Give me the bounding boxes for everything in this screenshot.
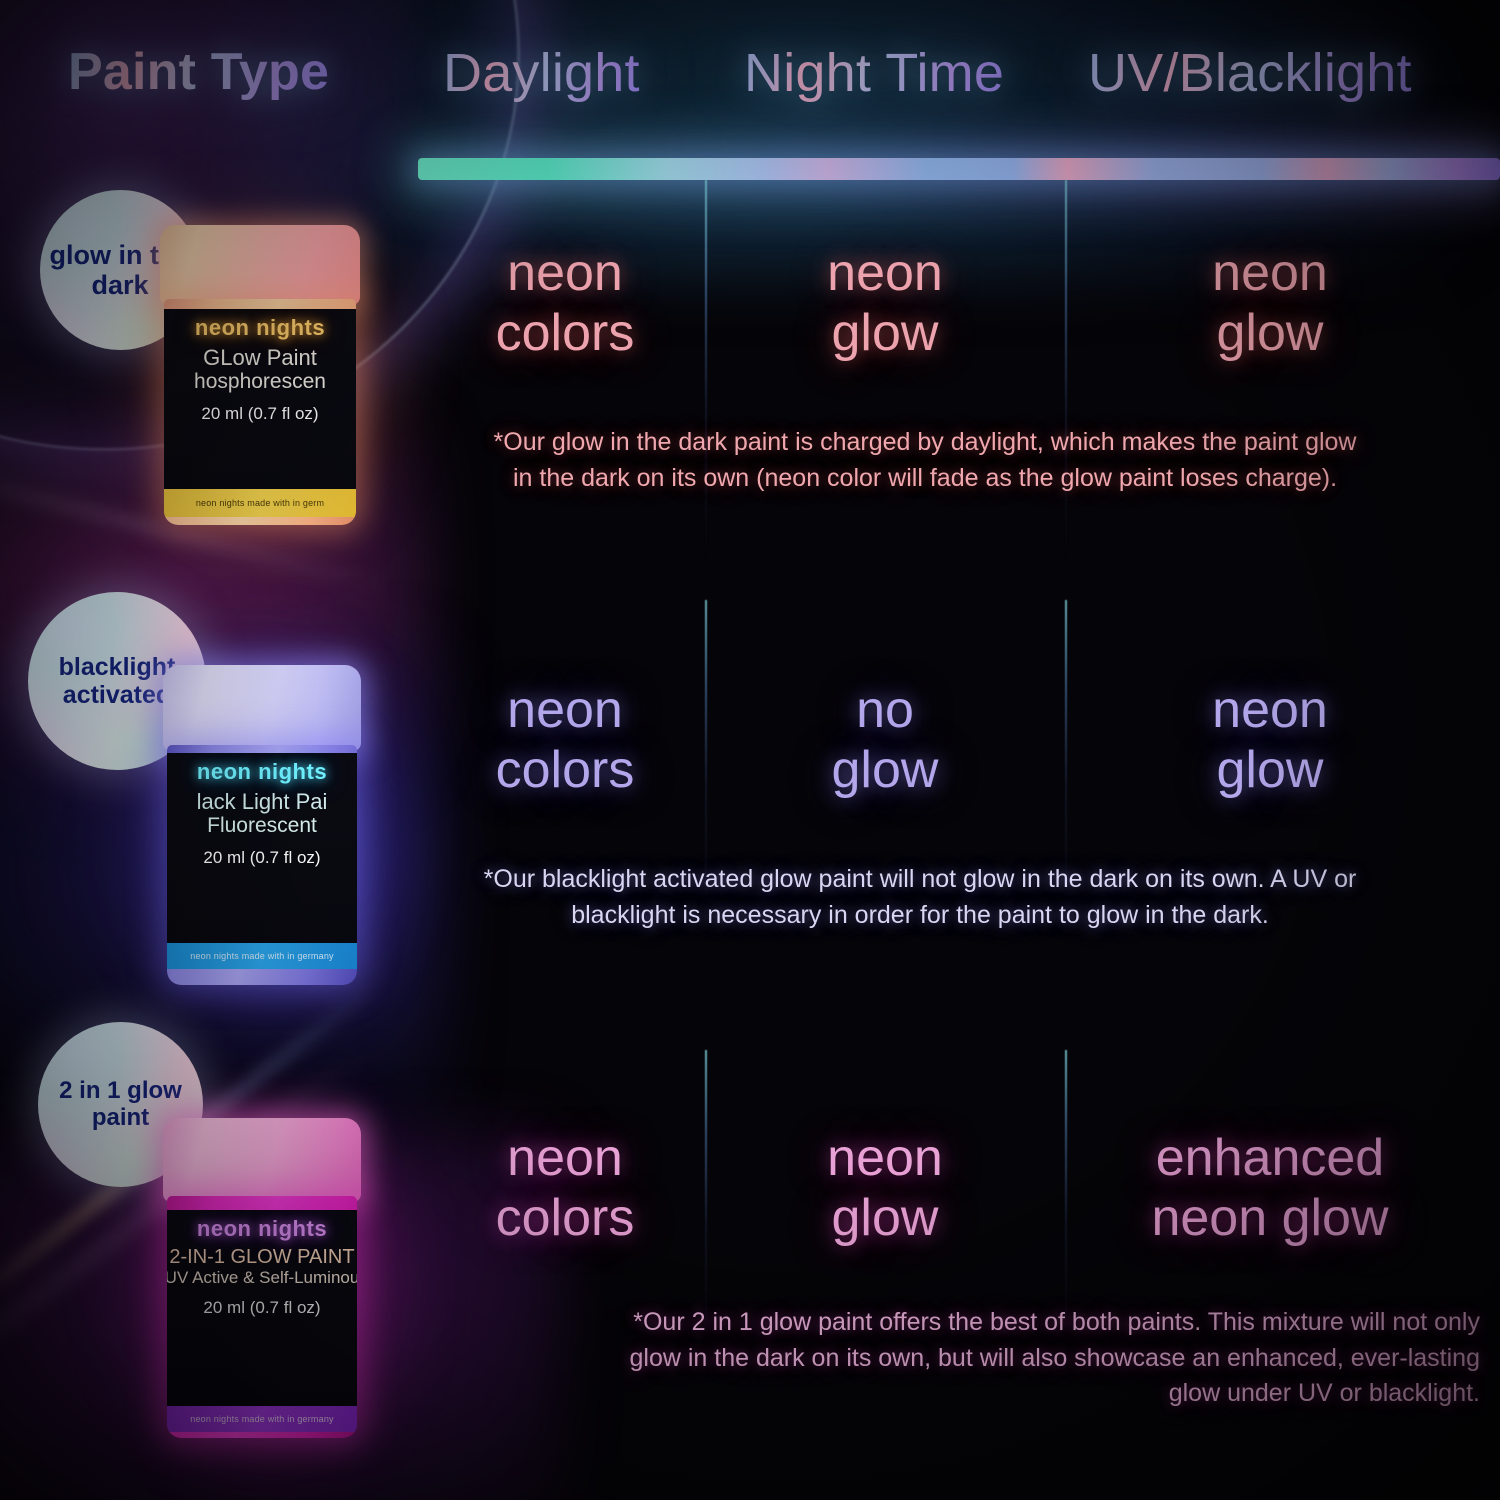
holographic-divider-bar — [418, 158, 1500, 180]
jar-product-line-2: UV Active & Self-Luminou — [167, 1268, 357, 1288]
jar-brand: neon nights — [195, 315, 325, 341]
column-divider-2-row-1 — [1065, 180, 1067, 600]
jar-product-line-2: Fluorescent — [207, 814, 317, 838]
column-header-night-time: Night Time — [744, 42, 1004, 104]
jar-label: neon nights 2-IN-1 GLOW PAINT UV Active … — [167, 1210, 357, 1406]
cell-r1-night-time: neon glow — [740, 243, 1030, 364]
cell-r2-uv-blacklight: neon glow — [1105, 680, 1435, 801]
product-jar-glow-in-the-dark: neon nights GLow Paint hosphorescen 20 m… — [160, 225, 360, 525]
jar-body: neon nights GLow Paint hosphorescen 20 m… — [164, 299, 356, 525]
jar-product-line-1: lack Light Pai — [197, 789, 328, 815]
note-row-1: *Our glow in the dark paint is charged b… — [370, 425, 1480, 496]
note-row-3: *Our 2 in 1 glow paint offers the best o… — [370, 1305, 1480, 1412]
jar-body: neon nights 2-IN-1 GLOW PAINT UV Active … — [167, 1196, 357, 1438]
jar-product-line-1: GLow Paint — [203, 345, 317, 371]
jar-lid — [160, 225, 360, 305]
jar-volume: 20 ml (0.7 fl oz) — [203, 1298, 320, 1318]
cell-r2-night-time: no glow — [740, 680, 1030, 801]
column-header-paint-type: Paint Type — [68, 42, 329, 102]
note-row-2: *Our blacklight activated glow paint wil… — [360, 862, 1480, 933]
product-jar-blacklight: neon nights lack Light Pai Fluorescent 2… — [163, 665, 361, 985]
background-glow-top — [230, 0, 1480, 270]
jar-brand: neon nights — [197, 759, 327, 785]
column-header-daylight: Daylight — [443, 42, 640, 104]
product-jar-2-in-1: neon nights 2-IN-1 GLOW PAINT UV Active … — [163, 1118, 361, 1438]
jar-label: neon nights lack Light Pai Fluorescent 2… — [167, 753, 357, 943]
cell-r1-uv-blacklight: neon glow — [1105, 243, 1435, 364]
jar-volume: 20 ml (0.7 fl oz) — [203, 848, 320, 868]
jar-brand: neon nights — [197, 1216, 327, 1242]
jar-footer-strip: neon nights made with in germany — [167, 943, 357, 969]
jar-lid — [163, 665, 361, 751]
column-divider-1-row-1 — [705, 180, 707, 600]
cell-r3-uv-blacklight: enhanced neon glow — [1095, 1128, 1445, 1249]
jar-lid — [163, 1118, 361, 1202]
infographic-root: Paint Type Daylight Night Time UV/Blackl… — [0, 0, 1500, 1500]
cell-r1-daylight: neon colors — [430, 243, 700, 364]
jar-product-line-1: 2-IN-1 GLOW PAINT — [169, 1246, 354, 1269]
cell-r3-night-time: neon glow — [740, 1128, 1030, 1249]
jar-volume: 20 ml (0.7 fl oz) — [201, 404, 318, 424]
jar-label: neon nights GLow Paint hosphorescen 20 m… — [164, 309, 356, 489]
jar-body: neon nights lack Light Pai Fluorescent 2… — [167, 745, 357, 985]
jar-footer-strip: neon nights made with in germany — [167, 1406, 357, 1432]
cell-r2-daylight: neon colors — [430, 680, 700, 801]
jar-product-line-2: hosphorescen — [194, 370, 326, 394]
cell-r3-daylight: neon colors — [430, 1128, 700, 1249]
column-header-uv-blacklight: UV/Blacklight — [1088, 42, 1412, 104]
jar-footer-strip: neon nights made with in germ — [164, 489, 356, 517]
table-header: Paint Type Daylight Night Time UV/Blackl… — [0, 42, 1500, 134]
